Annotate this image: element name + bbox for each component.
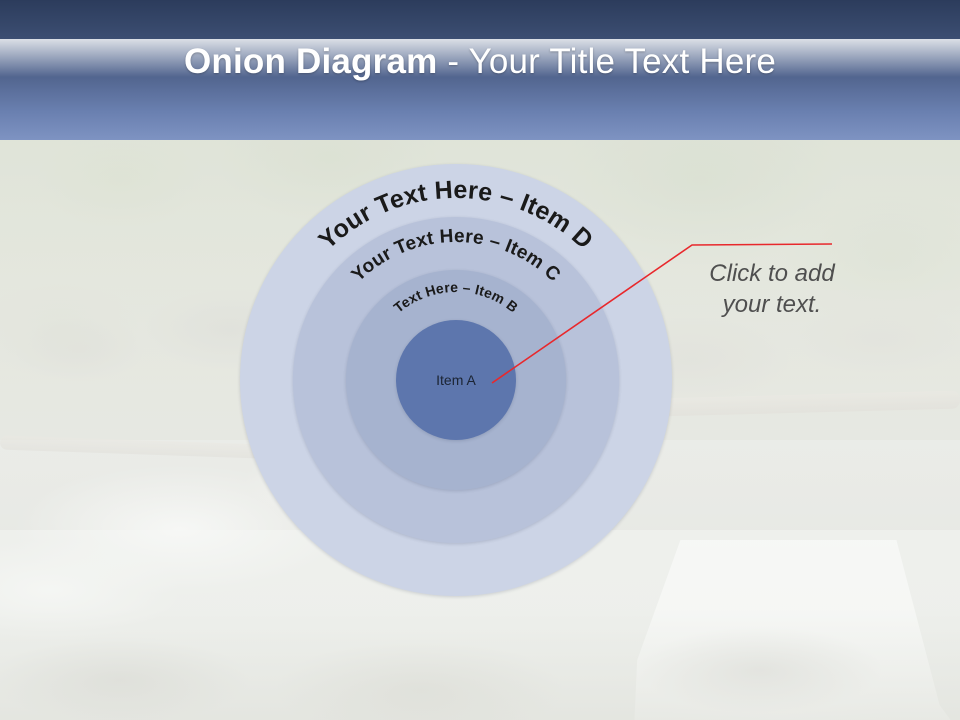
page-title[interactable]: Onion Diagram - Your Title Text Here [0,40,960,84]
page-title-rest: - Your Title Text Here [437,42,776,81]
callout-line-1: Click to add [660,258,884,289]
page-title-bold: Onion Diagram [184,42,437,81]
title-bar: Onion Diagram - Your Title Text Here [0,0,960,140]
callout-placeholder-text[interactable]: Click to add your text. [660,258,884,320]
callout-line-2: your text. [660,289,884,320]
slide: Onion Diagram - Your Title Text Here You… [0,0,960,720]
